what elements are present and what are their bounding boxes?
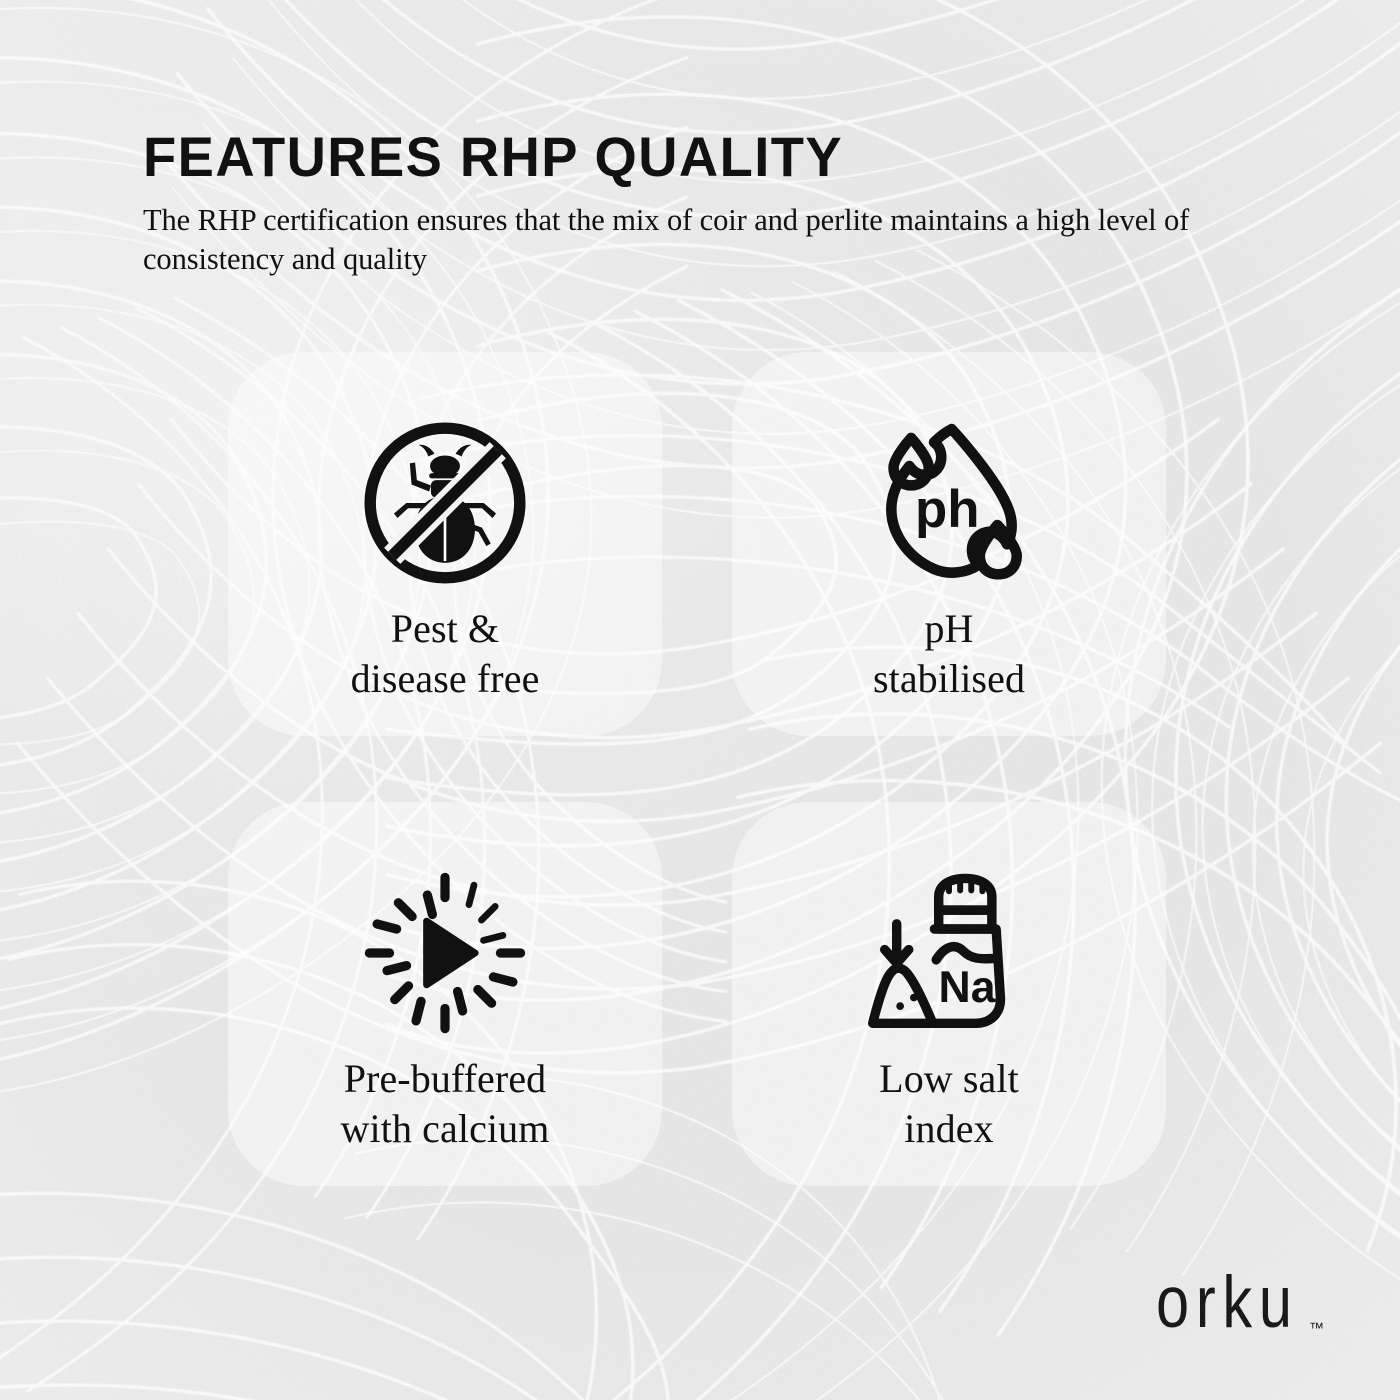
ph-icon-text: ph [915,480,980,539]
page-title: FEATURES RHP QUALITY [143,128,1229,185]
feature-card-pest-disease-free[interactable]: Pest & disease free [228,352,662,736]
salt-shaker-icon: Na [854,858,1044,1048]
feature-label-line2: disease free [351,656,540,701]
feature-label-line1: Pest & [391,606,499,651]
feature-label-line1: Low salt [879,1056,1019,1101]
feature-label-line2: with calcium [341,1106,550,1151]
poster-canvas: FEATURES RHP QUALITY The RHP certificati… [0,0,1400,1400]
feature-card-ph-stabilised[interactable]: ph pH stabilised [732,352,1166,736]
trademark-symbol: ™ [1309,1321,1324,1336]
feature-label-line1: pH [924,606,973,651]
features-grid: Pest & disease free ph [228,352,1166,1186]
feature-label: pH stabilised [873,604,1025,705]
feature-card-pre-buffered[interactable]: Pre-buffered with calcium [228,802,662,1186]
page-subtitle: The RHP certification ensures that the m… [143,201,1243,279]
buffering-play-icon [350,858,540,1048]
feature-card-low-salt-index[interactable]: Na Low salt index [732,802,1166,1186]
no-pest-icon [350,408,540,598]
feature-label: Pest & disease free [351,604,540,705]
feature-label-line1: Pre-buffered [344,1056,547,1101]
ph-droplet-icon: ph [854,408,1044,598]
salt-icon-text: Na [939,963,997,1012]
header: FEATURES RHP QUALITY The RHP certificati… [143,128,1263,279]
feature-label-line2: index [904,1106,993,1151]
feature-label: Low salt index [879,1054,1019,1155]
brand-logo-wordmark: orku [1156,1267,1299,1340]
feature-label: Pre-buffered with calcium [341,1054,550,1155]
feature-label-line2: stabilised [873,656,1025,701]
brand-logo: orku ™ [1156,1278,1324,1340]
